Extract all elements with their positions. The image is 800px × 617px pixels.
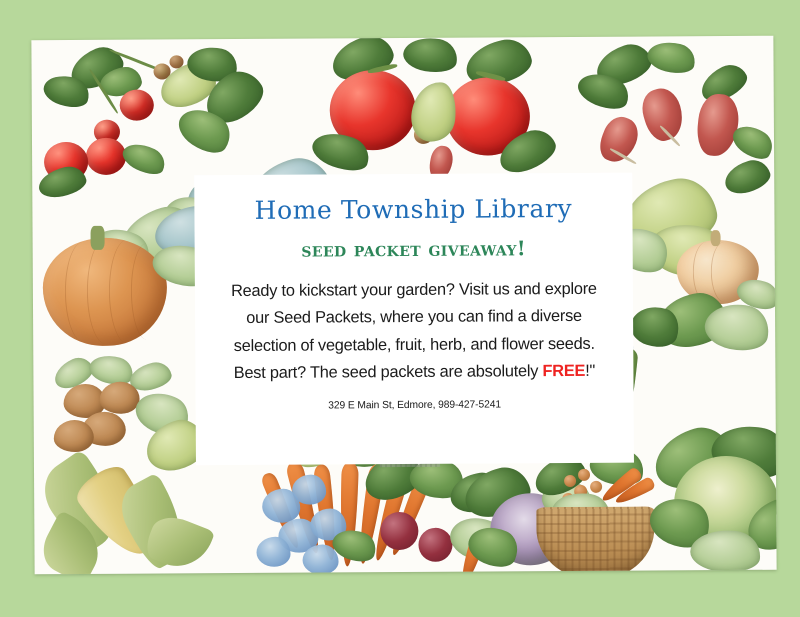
address-line: 329 E Main St, Edmore, 989-427-5241 xyxy=(196,385,634,412)
closing-suffix: !" xyxy=(585,362,595,380)
scan-background: Home Township Library Seed Packet Giveaw… xyxy=(0,0,800,617)
flyer-paper: Home Township Library Seed Packet Giveaw… xyxy=(31,36,776,575)
body-line-2: our Seed Packets, where you can find a d… xyxy=(203,303,625,333)
body-line-1: Ready to kickstart your garden? Visit us… xyxy=(203,275,625,305)
lettuce-and-squash-illustration xyxy=(612,176,776,367)
corn-cob-illustration xyxy=(44,449,265,574)
flyer-subtitle: Seed Packet Giveaway! xyxy=(195,222,633,261)
body-line-4: Best part? The seed packets are absolute… xyxy=(203,358,625,388)
flyer-artwork-area: Home Township Library Seed Packet Giveaw… xyxy=(31,36,776,575)
body-line-3: selection of vegetable, fruit, herb, and… xyxy=(203,330,625,360)
cabbage-head-illustration xyxy=(650,426,777,575)
purple-cabbage-illustration xyxy=(464,469,595,574)
closing-prefix: Best part? The seed packets are absolute… xyxy=(234,362,543,382)
blue-flower-illustration xyxy=(252,474,383,574)
vegetable-basket-illustration xyxy=(530,448,691,574)
flyer-text-panel: Home Township Library Seed Packet Giveaw… xyxy=(194,173,634,466)
page-title: Home Township Library xyxy=(194,173,632,225)
free-highlight: FREE xyxy=(542,362,585,380)
potato-cluster-illustration xyxy=(41,355,212,486)
flyer-body-copy: Ready to kickstart your garden? Visit us… xyxy=(195,258,634,388)
beet-and-greens-illustration xyxy=(354,455,515,574)
